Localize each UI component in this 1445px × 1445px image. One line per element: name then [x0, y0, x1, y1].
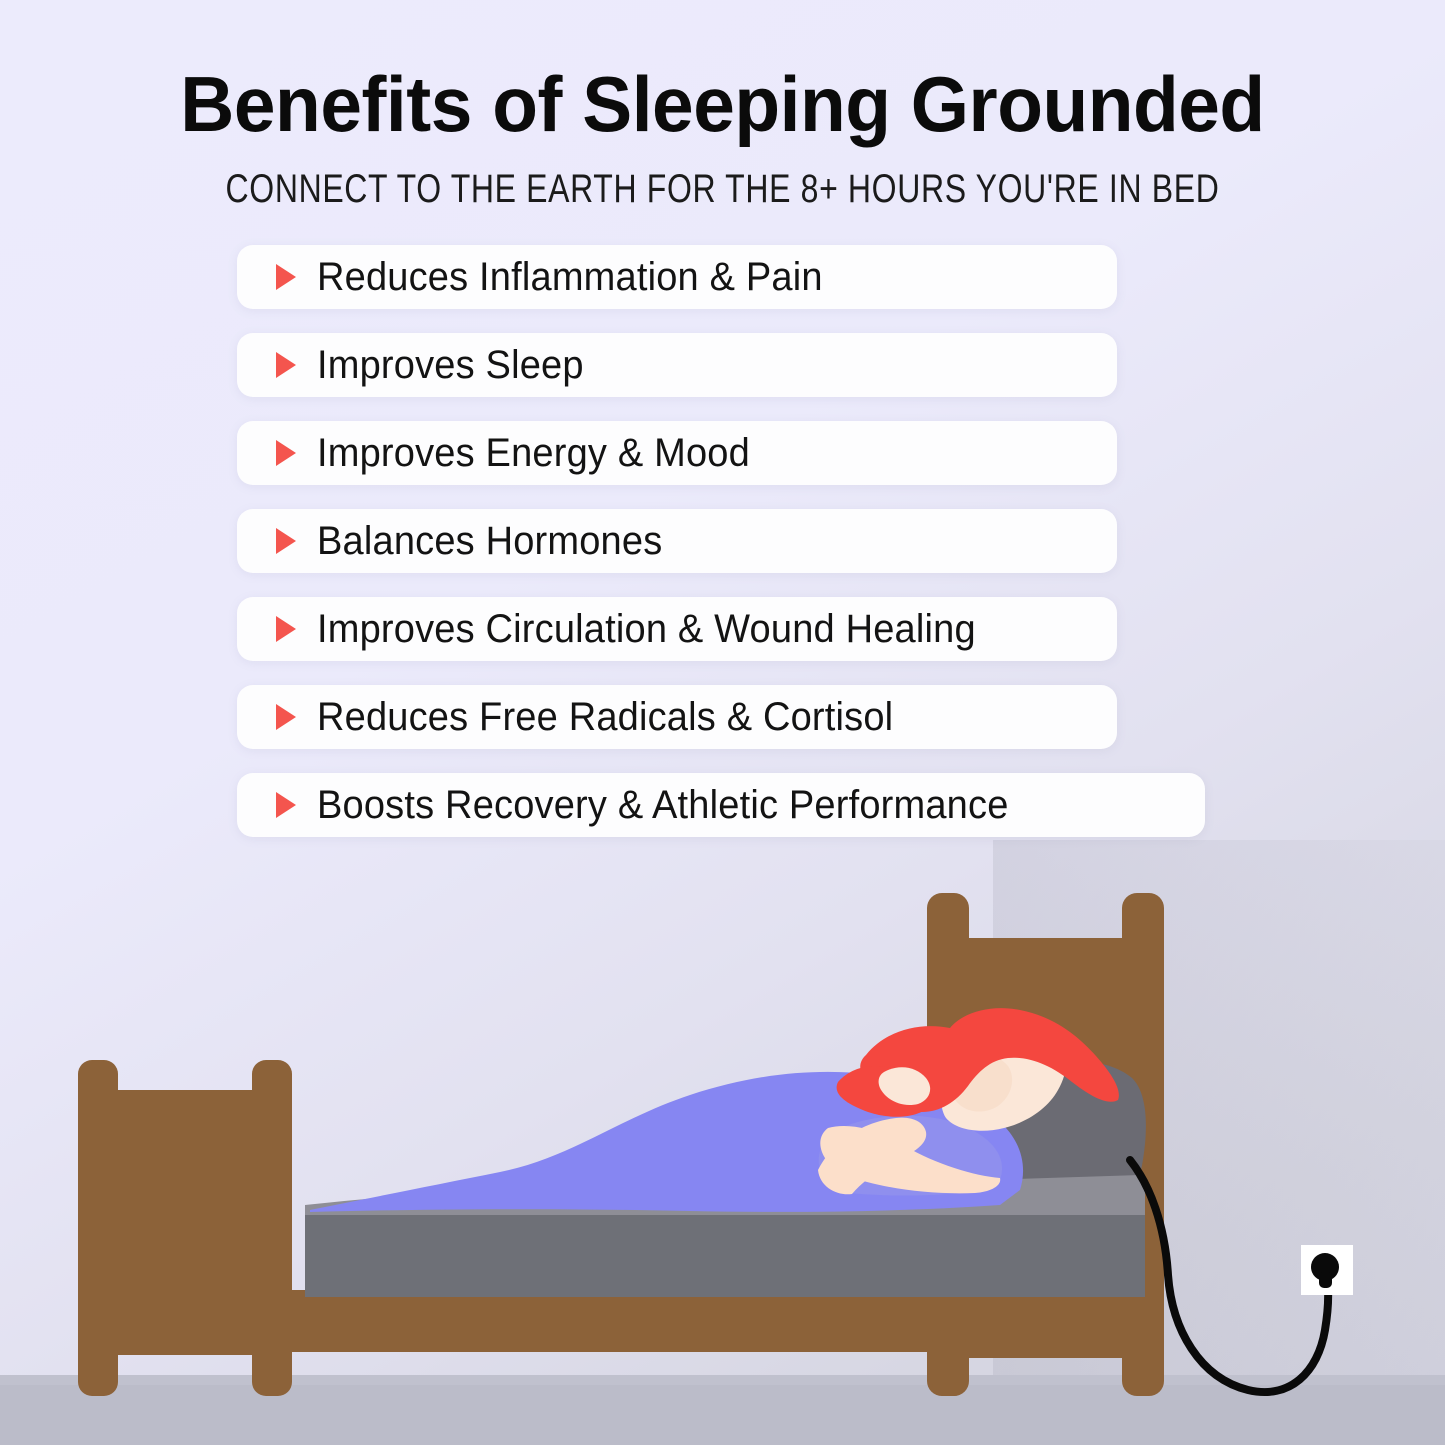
footboard-panel	[78, 1090, 292, 1355]
mattress	[305, 1205, 1145, 1297]
bed-leg-center	[932, 1330, 966, 1396]
bed-rail	[292, 1290, 1152, 1352]
infographic-canvas: Benefits of Sleeping Grounded CONNECT TO…	[0, 0, 1445, 1445]
sleeping-illustration	[0, 0, 1445, 1445]
wall-outlet-plug-neck	[1319, 1272, 1332, 1288]
